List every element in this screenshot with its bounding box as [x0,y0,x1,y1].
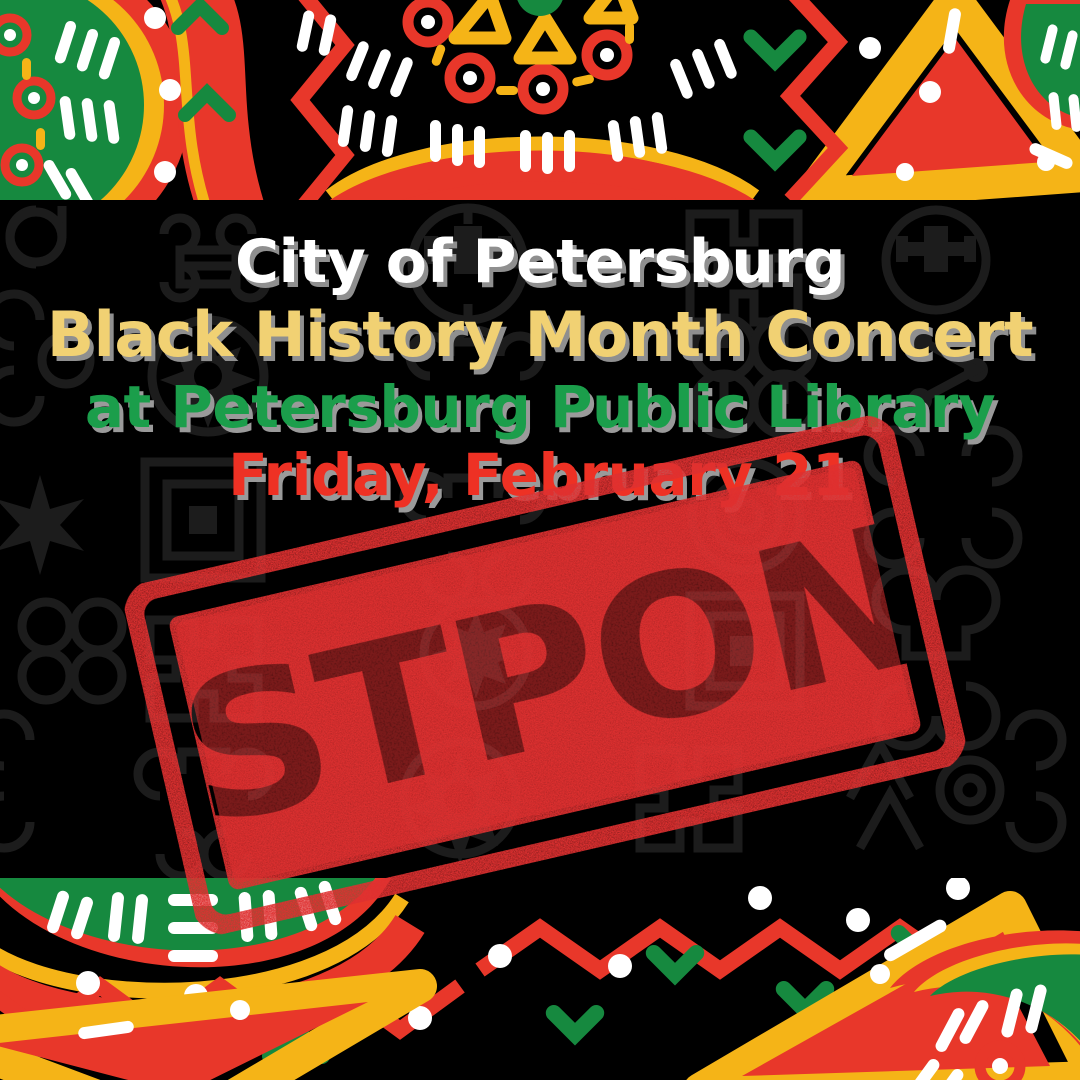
headline-block: City of Petersburg Black History Month C… [0,232,1080,504]
top-border-pattern [0,0,1080,200]
headline-venue: at Petersburg Public Library [0,378,1080,436]
headline-city: City of Petersburg [0,232,1080,292]
bottom-border-pattern [0,878,1080,1080]
headline-event-title: Black History Month Concert [0,304,1080,366]
poster-canvas: City of Petersburg Black History Month C… [0,0,1080,1080]
